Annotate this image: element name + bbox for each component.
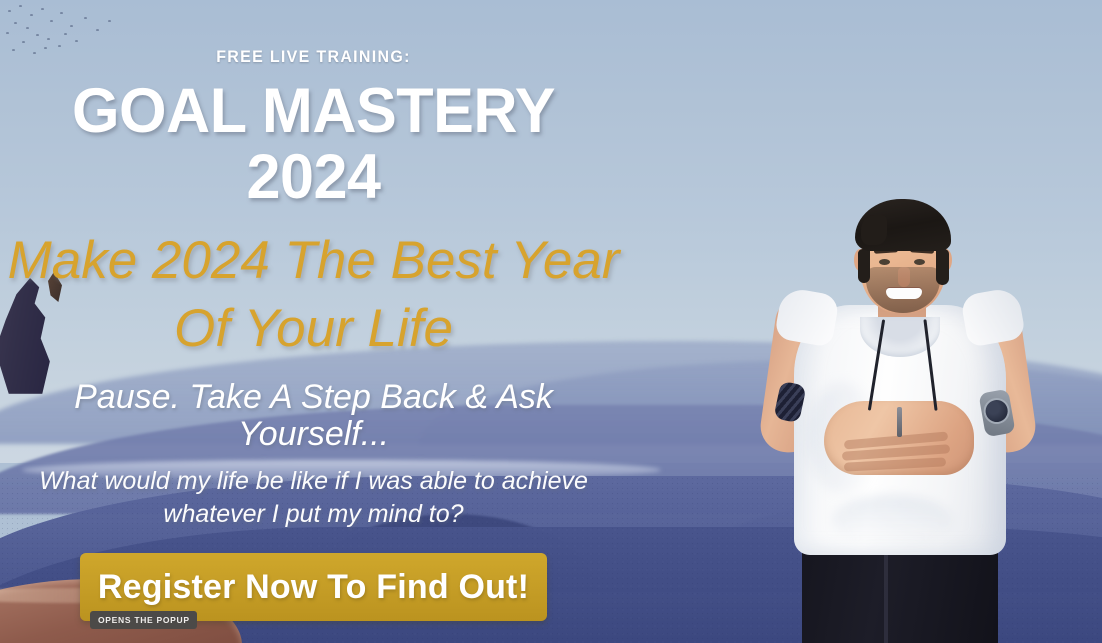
ask-question-line-1: What would my life be like if I was able… xyxy=(30,465,597,498)
presenter-eye-left xyxy=(879,259,890,265)
presenter-hair xyxy=(855,199,951,251)
gold-subheadline-line-2: Of Your Life xyxy=(0,295,627,363)
tshirt-sleeve-left xyxy=(774,286,840,347)
ask-question-line-2: whatever I put my mind to? xyxy=(30,498,597,531)
presenter-eye-right xyxy=(914,259,925,265)
ask-yourself-question: What would my life be like if I was able… xyxy=(0,465,627,531)
presenter-sideburn-right xyxy=(936,249,949,285)
opens-popup-badge: OPENS THE POPUP xyxy=(90,611,197,629)
necklace-pendant xyxy=(897,407,902,437)
tshirt-fold-lower xyxy=(832,495,952,547)
eyebrow-label: FREE LIVE TRAINING: xyxy=(19,47,608,67)
gold-subheadline-line-1: Make 2024 The Best Year xyxy=(0,227,627,295)
hero-content: FREE LIVE TRAINING: GOAL MASTERY 2024 Ma… xyxy=(0,0,627,643)
page-title: GOAL MASTERY 2024 xyxy=(9,79,617,210)
presenter-nose xyxy=(898,267,910,287)
presenter-sideburn-left xyxy=(858,249,870,283)
ask-yourself-heading: Pause. Take A Step Back & Ask Yourself..… xyxy=(0,379,627,454)
presenter-photo xyxy=(682,0,1102,643)
cta-area: Register Now To Find Out! OPENS THE POPU… xyxy=(0,553,627,629)
gold-subheadline: Make 2024 The Best Year Of Your Life xyxy=(0,227,627,363)
landing-page: FREE LIVE TRAINING: GOAL MASTERY 2024 Ma… xyxy=(0,0,1102,643)
presenter-smile xyxy=(886,288,922,299)
